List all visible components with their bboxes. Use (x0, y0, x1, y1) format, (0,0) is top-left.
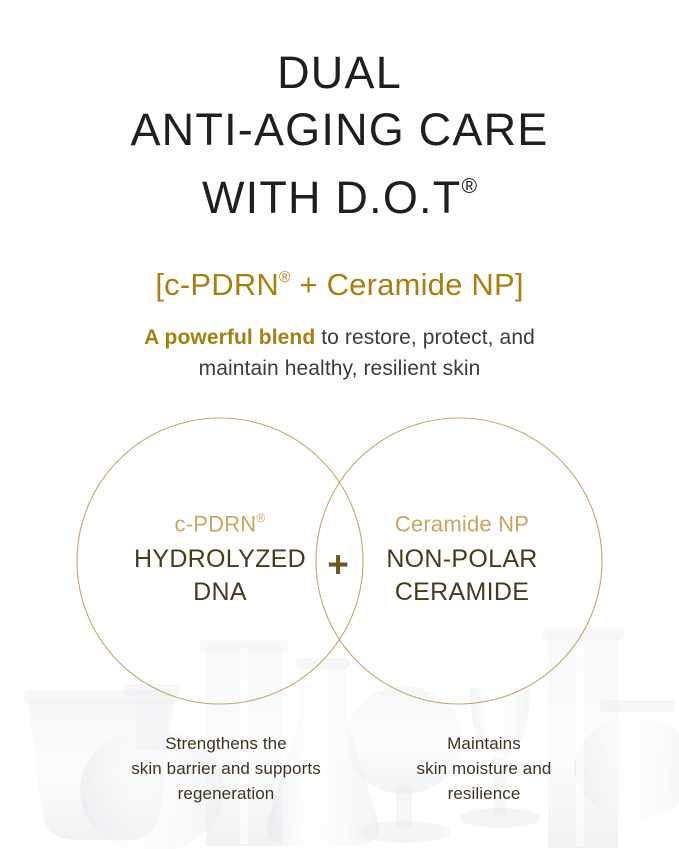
benefit-caption-left-line-2: skin barrier and supports (66, 756, 386, 781)
venn-right-labels: Ceramide NP NON-POLAR CERAMIDE (338, 503, 586, 609)
venn-left-ingredient: c-PDRN® (96, 503, 344, 540)
benefit-caption-right-line-3: resilience (350, 781, 618, 806)
benefit-caption-right-line-1: Maintains (350, 731, 618, 756)
benefit-caption-left-line-3: regeneration (66, 781, 386, 806)
benefit-caption-left-line-1: Strengthens the (66, 731, 386, 756)
venn-right-compound: NON-POLAR CERAMIDE (338, 543, 586, 609)
venn-left-labels: c-PDRN® HYDROLYZED DNA (96, 503, 344, 609)
venn-left-ingredient-text: c-PDRN (175, 512, 257, 537)
venn-left-compound-line-1: HYDROLYZED (96, 543, 344, 576)
venn-right-ingredient-text: Ceramide NP (395, 512, 529, 537)
registered-trademark-icon: ® (256, 511, 265, 525)
venn-right-ingredient: Ceramide NP (338, 503, 586, 540)
venn-right-compound-line-2: CERAMIDE (338, 576, 586, 609)
venn-right-compound-line-1: NON-POLAR (338, 543, 586, 576)
benefit-caption-left: Strengthens the skin barrier and support… (66, 731, 386, 806)
venn-left-compound: HYDROLYZED DNA (96, 543, 344, 609)
venn-left-compound-line-2: DNA (96, 576, 344, 609)
benefit-caption-right-line-2: skin moisture and (350, 756, 618, 781)
benefit-caption-right: Maintains skin moisture and resilience (350, 731, 618, 806)
venn-diagram (0, 0, 679, 849)
